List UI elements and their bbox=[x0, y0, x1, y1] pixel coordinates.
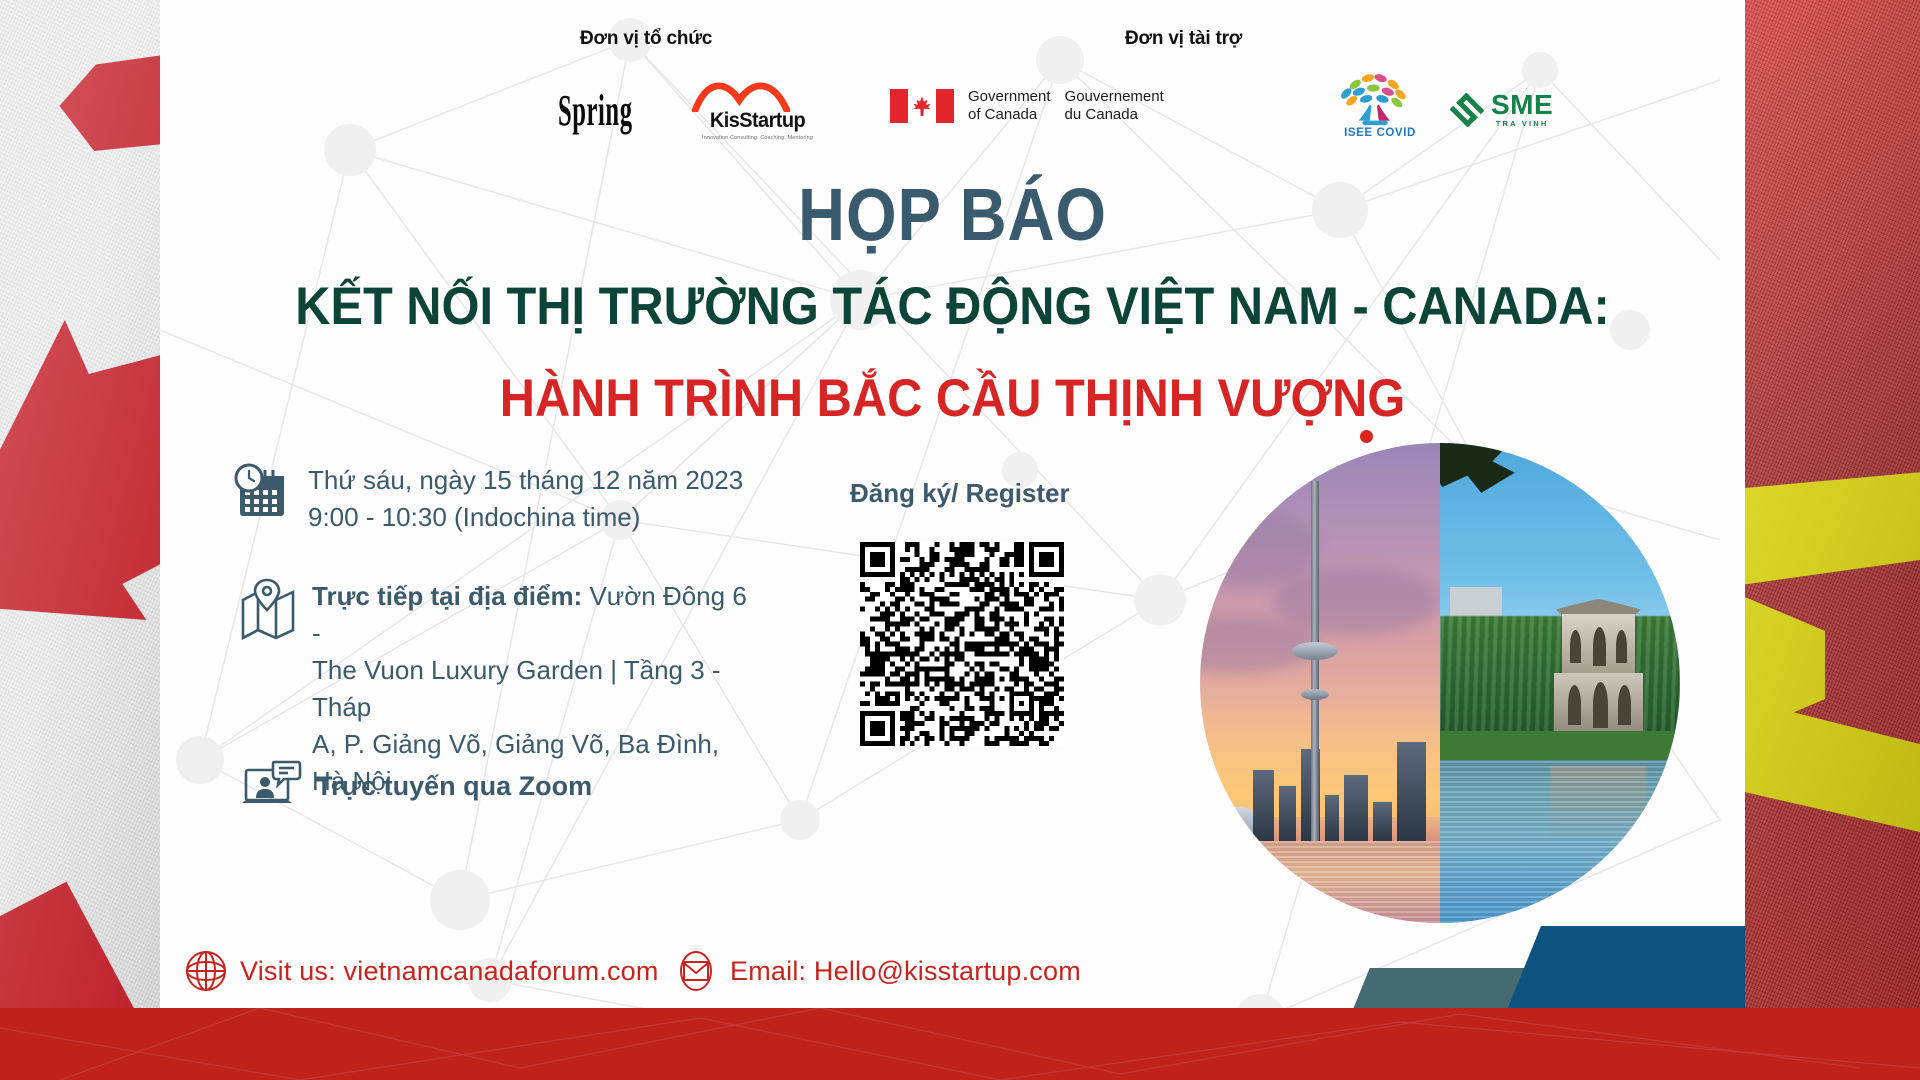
footer-contacts: Visit us: vietnamcanadaforum.com Email: … bbox=[160, 950, 1745, 1016]
hoan-kiem-lake bbox=[1440, 760, 1680, 923]
isee-covid-caption: ISEE COVID bbox=[1330, 127, 1430, 139]
email-contact[interactable]: Email: Hello@kisstartup.com bbox=[675, 950, 1081, 992]
register-label: Đăng ký/ Register bbox=[850, 478, 1070, 509]
event-online-block: Trực tuyến qua Zoom bbox=[240, 758, 592, 815]
kisstartup-logo: KisStartup Innovation Consulting. Coachi… bbox=[690, 78, 825, 141]
decorative-red-dot bbox=[1360, 430, 1373, 443]
sme-subtitle: TRA VINH bbox=[1491, 119, 1553, 128]
foreground-leaves bbox=[1440, 443, 1565, 568]
kisstartup-tagline: Innovation Consulting. Coaching. Mentori… bbox=[690, 135, 825, 141]
website-contact[interactable]: Visit us: vietnamcanadaforum.com bbox=[185, 950, 659, 992]
tower-reflection bbox=[1550, 766, 1646, 841]
footer-red-bar bbox=[0, 1008, 1920, 1080]
venue-label: Trực tiếp tại địa điểm: bbox=[312, 581, 582, 611]
sme-mark-icon bbox=[1450, 93, 1484, 127]
registration-qr-code[interactable] bbox=[860, 542, 1064, 746]
canada-flag-icon bbox=[890, 89, 954, 123]
event-date-block: Thứ sáu, ngày 15 tháng 12 năm 2023 9:00 … bbox=[232, 462, 743, 536]
vietnam-flag-panel bbox=[1745, 0, 1920, 1080]
government-of-canada-en: Government of Canada bbox=[968, 88, 1051, 125]
website-label: Visit us: bbox=[240, 956, 336, 986]
lake-shore-grass bbox=[1440, 731, 1680, 760]
organizer-label: Đơn vị tổ chức bbox=[580, 28, 712, 50]
venue-line-1: Trực tiếp tại địa điểm: Vườn Đông 6 - bbox=[312, 578, 758, 652]
venue-line-2: The Vuon Luxury Garden | Tầng 3 - Tháp bbox=[312, 652, 758, 726]
government-of-canada-logo: Government of Canada Gouvernement du Can… bbox=[890, 88, 1164, 125]
event-time-line: 9:00 - 10:30 (Indochina time) bbox=[308, 499, 743, 536]
sme-wordmark: SME bbox=[1491, 92, 1553, 119]
email-address: Hello@kisstartup.com bbox=[814, 956, 1081, 986]
poster-subtitle-2: HÀNH TRÌNH BẮC CẦU THỊNH VƯỢNG bbox=[223, 368, 1681, 429]
poster-title: HỌP BÁO bbox=[255, 172, 1650, 257]
turtle-tower bbox=[1550, 577, 1646, 731]
fabric-sheen bbox=[1745, 0, 1920, 1080]
sponsor-label: Đơn vị tài trợ bbox=[1125, 28, 1242, 50]
city-photo-circle bbox=[1200, 443, 1680, 923]
footer-network-pattern bbox=[0, 1008, 1920, 1080]
online-text: Trực tuyến qua Zoom bbox=[316, 767, 592, 805]
envelope-icon bbox=[675, 950, 717, 992]
government-of-canada-fr: Gouvernement du Canada bbox=[1065, 88, 1164, 125]
kisstartup-wordmark: KisStartup bbox=[693, 109, 821, 133]
map-pin-icon bbox=[238, 578, 298, 649]
poster-subtitle-1: KẾT NỐI THỊ TRƯỜNG TÁC ĐỘNG VIỆT NAM - C… bbox=[223, 276, 1681, 337]
cn-tower bbox=[1310, 481, 1320, 846]
email-text: Email: Hello@kisstartup.com bbox=[730, 956, 1081, 987]
fabric-sheen bbox=[0, 0, 160, 1080]
isee-tree-icon bbox=[1330, 70, 1420, 126]
kisstartup-arc-icon bbox=[690, 78, 792, 112]
toronto-photo bbox=[1200, 443, 1440, 923]
spring-logo: Spring bbox=[558, 85, 633, 136]
calendar-clock-icon bbox=[232, 462, 294, 525]
hanoi-photo bbox=[1440, 443, 1680, 923]
email-label: Email: bbox=[730, 956, 806, 986]
globe-icon bbox=[185, 950, 227, 992]
canada-flag-panel bbox=[0, 0, 160, 1080]
poster-canvas: Đơn vị tổ chức Đơn vị tài trợ Spring Kis… bbox=[160, 0, 1745, 1080]
sme-travinh-logo: SME TRA VINH bbox=[1450, 92, 1553, 128]
online-meeting-icon bbox=[240, 758, 302, 815]
isee-covid-logo: ISEE COVID bbox=[1330, 70, 1430, 139]
toronto-waterfront bbox=[1200, 841, 1440, 923]
event-date-line-1: Thứ sáu, ngày 15 tháng 12 năm 2023 bbox=[308, 462, 743, 499]
website-text: Visit us: vietnamcanadaforum.com bbox=[240, 956, 659, 987]
website-url: vietnamcanadaforum.com bbox=[344, 956, 659, 986]
